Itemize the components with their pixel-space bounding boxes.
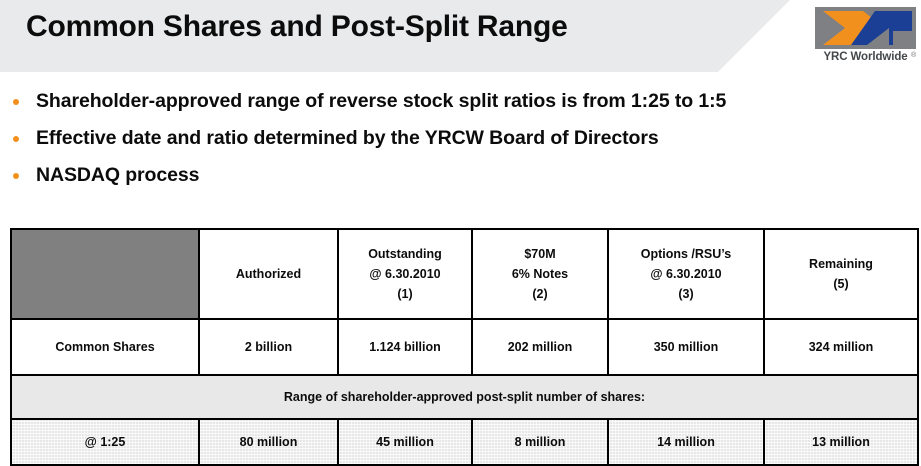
table-header-cell-options-rsu: Options /RSU’s @ 6.30.2010 (3) [608, 229, 764, 319]
row-label-common-shares: Common Shares [11, 319, 199, 375]
bullet-text: NASDAQ process [36, 162, 199, 188]
yrc-logo-mark-icon [815, 7, 916, 49]
table-header-cell-notes: $70M 6% Notes (2) [472, 229, 608, 319]
header-line-2: (5) [765, 274, 917, 294]
cell-authorized: 2 billion [199, 319, 338, 375]
slide-header: Common Shares and Post-Split Range YRC W… [0, 0, 921, 76]
table-row: @ 1:25 80 million 45 million 8 million 1… [11, 419, 918, 465]
cell-notes-postsplit: 8 million [472, 419, 608, 465]
cell-options-rsu-postsplit: 14 million [608, 419, 764, 465]
registered-trademark-icon: ® [911, 52, 916, 59]
page-title: Common Shares and Post-Split Range [26, 10, 568, 44]
table-header-corner-cell [11, 229, 199, 319]
shares-table-container: Authorized Outstanding @ 6.30.2010 (1) $… [10, 228, 905, 466]
header-line-3: (1) [339, 284, 471, 304]
header-line-1: Remaining [765, 254, 917, 274]
header-line-1: Options /RSU’s [609, 244, 763, 264]
list-item: Effective date and ratio determined by t… [0, 125, 921, 162]
cell-authorized-postsplit: 80 million [199, 419, 338, 465]
list-item: Shareholder-approved range of reverse st… [0, 88, 921, 125]
table-note-row: Range of shareholder-approved post-split… [11, 375, 918, 419]
bullet-dot-icon [13, 173, 19, 179]
bullet-dot-icon [13, 136, 19, 142]
logo-wordmark: YRC Worldwide [815, 51, 916, 63]
table-header-cell-remaining: Remaining (5) [764, 229, 918, 319]
row-label-ratio: @ 1:25 [11, 419, 199, 465]
cell-notes: 202 million [472, 319, 608, 375]
header-line-3: (3) [609, 284, 763, 304]
header-line-1: Authorized [200, 264, 337, 284]
table-header-row: Authorized Outstanding @ 6.30.2010 (1) $… [11, 229, 918, 319]
cell-remaining: 324 million [764, 319, 918, 375]
bullet-dot-icon [13, 99, 19, 105]
cell-options-rsu: 350 million [608, 319, 764, 375]
bullet-text: Effective date and ratio determined by t… [36, 125, 659, 151]
table-header-cell-authorized: Authorized [199, 229, 338, 319]
cell-outstanding-postsplit: 45 million [338, 419, 472, 465]
cell-remaining-postsplit: 13 million [764, 419, 918, 465]
header-line-2: @ 6.30.2010 [339, 264, 471, 284]
list-item: NASDAQ process [0, 162, 921, 199]
table-row: Common Shares 2 billion 1.124 billion 20… [11, 319, 918, 375]
header-line-2: @ 6.30.2010 [609, 264, 763, 284]
shares-table: Authorized Outstanding @ 6.30.2010 (1) $… [10, 228, 919, 466]
cell-outstanding: 1.124 billion [338, 319, 472, 375]
header-line-2: 6% Notes [473, 264, 607, 284]
header-line-3: (2) [473, 284, 607, 304]
yrc-worldwide-logo: YRC Worldwide ® [815, 7, 916, 73]
note-text: Range of shareholder-approved post-split… [11, 375, 918, 419]
header-line-1: $70M [473, 244, 607, 264]
header-line-1: Outstanding [339, 244, 471, 264]
table-header-cell-outstanding: Outstanding @ 6.30.2010 (1) [338, 229, 472, 319]
bullet-text: Shareholder-approved range of reverse st… [36, 88, 726, 114]
bullet-list: Shareholder-approved range of reverse st… [0, 88, 921, 199]
